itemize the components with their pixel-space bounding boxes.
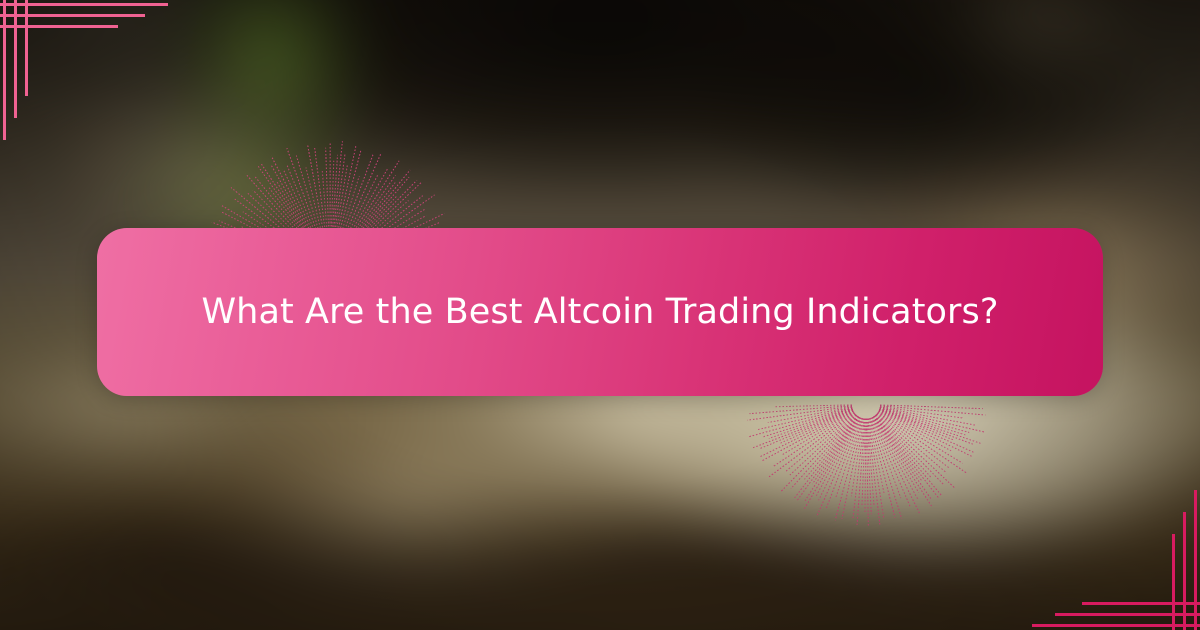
- title-banner: What Are the Best Altcoin Trading Indica…: [97, 228, 1103, 396]
- corner-line-horizontal: [1055, 613, 1200, 616]
- corner-line-vertical: [1183, 512, 1186, 630]
- corner-line-vertical: [1194, 490, 1197, 630]
- corner-line-vertical: [3, 0, 6, 140]
- social-card: What Are the Best Altcoin Trading Indica…: [0, 0, 1200, 630]
- corner-line-horizontal: [0, 25, 118, 28]
- corner-bracket-bottom-right: [1000, 450, 1200, 630]
- corner-bracket-top-left: [0, 0, 200, 180]
- page-title: What Are the Best Altcoin Trading Indica…: [175, 291, 1024, 333]
- corner-line-vertical: [14, 0, 17, 118]
- corner-line-horizontal: [0, 14, 145, 17]
- corner-line-vertical: [1172, 534, 1175, 630]
- corner-line-vertical: [25, 0, 28, 96]
